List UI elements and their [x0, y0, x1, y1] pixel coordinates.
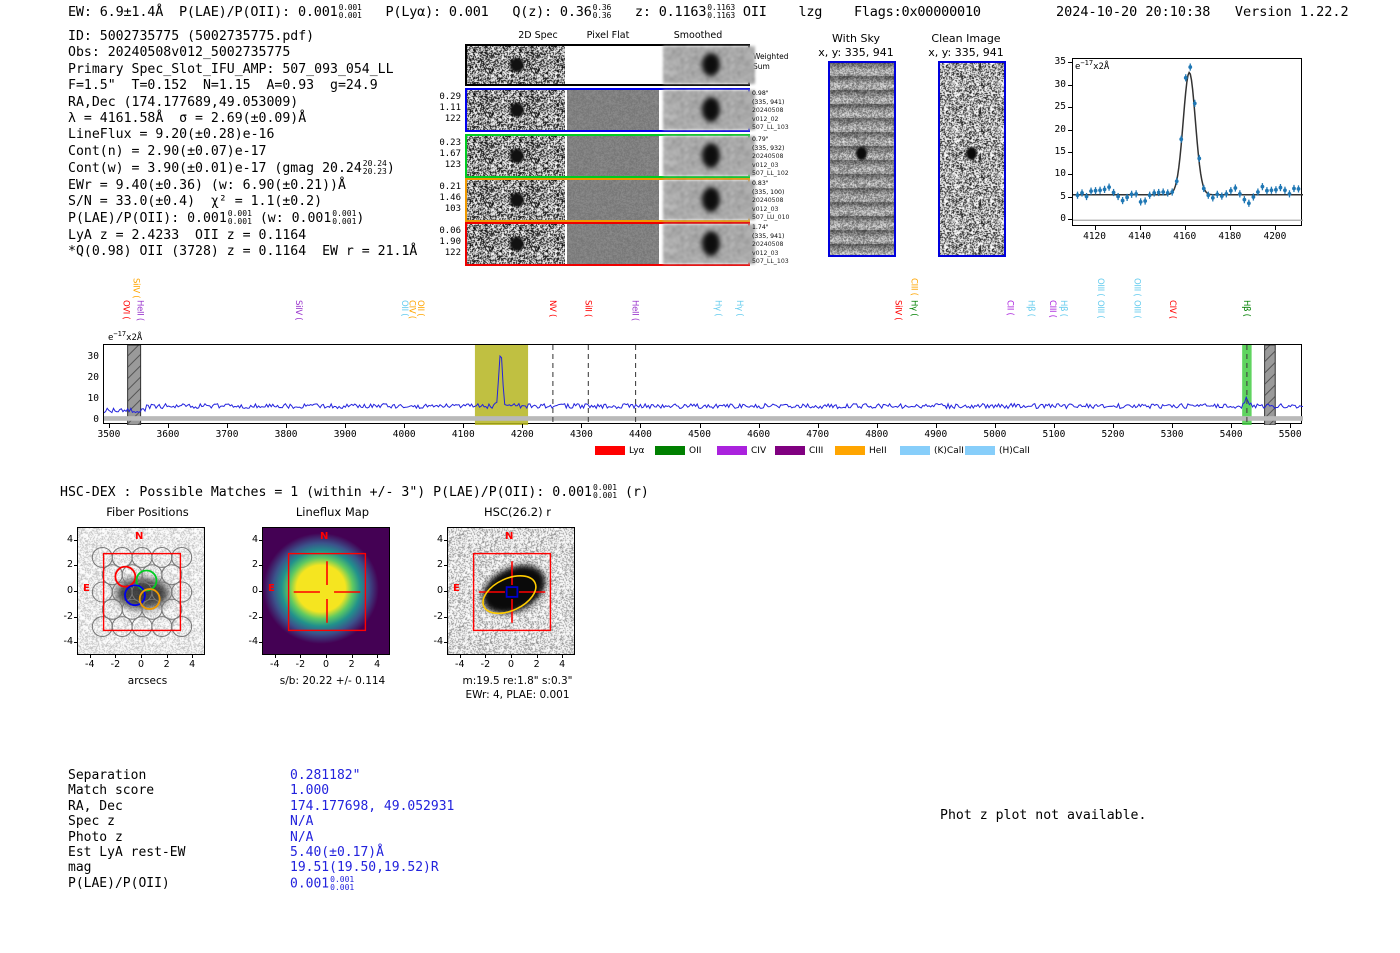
x-tick-label: 2: [153, 659, 181, 670]
x-tick-label: 5100: [1029, 429, 1079, 440]
photoz-note: Phot z plot not available.: [940, 808, 1146, 823]
y-tick-label: 4: [242, 534, 258, 545]
row-value: 19.51(19.50,19.52)R: [290, 860, 439, 875]
row-value: N/A: [290, 814, 313, 829]
spectral-line-label: SiIV (: [293, 300, 303, 344]
spec2d-right-value: (335, 100): [752, 189, 802, 198]
x-tick: [275, 655, 276, 658]
x-tick-label: 4: [178, 659, 206, 670]
cutout-image-lineflux-map: [262, 527, 390, 655]
spectral-line-label: Hγ (: [712, 300, 722, 344]
info-line: EWr = 9.40(±0.36) (w: 6.90(±0.21))Å: [68, 178, 417, 194]
header-summary: EW: 6.9±1.4Å P(LAE)/P(OII): 0.0010.0010.…: [68, 4, 981, 20]
y-tick: [1068, 62, 1072, 63]
spec2d-left-value: 122: [423, 114, 461, 125]
spec2d-left-value: 122: [423, 248, 461, 259]
x-tick: [1054, 424, 1055, 428]
y-tick-label: 30: [69, 351, 99, 362]
x-tick: [326, 655, 327, 658]
x-tick-label: -2: [101, 659, 129, 670]
x-tick-label: 5300: [1147, 429, 1197, 440]
x-tick: [404, 424, 405, 428]
x-tick: [1140, 226, 1141, 230]
spectral-line-label: SiIV (: [892, 300, 902, 344]
x-tick: [936, 424, 937, 428]
info-line-plae: P(LAE)/P(OII): 0.0010.0010.001 (w: 0.001…: [68, 210, 417, 227]
emission-blob: [702, 97, 720, 122]
spec2d-cell-smoothed: [663, 180, 755, 220]
y-tick-label: 20: [1038, 124, 1066, 135]
x-tick: [463, 424, 464, 428]
spec2d-cell-smoothed: [663, 90, 755, 130]
spec2d-row: [465, 222, 750, 266]
row-label: Separation: [68, 768, 146, 783]
spec2d-right-value: 20240508: [752, 107, 802, 116]
x-tick: [995, 424, 996, 428]
flux-unit-annotation: e−17x2Å: [1075, 59, 1109, 72]
info-line: S/N = 33.0(±0.4) χ² = 1.1(±0.2): [68, 194, 417, 210]
header-timestamp-version: 2024-10-20 20:10:38 Version 1.22.2: [1056, 4, 1349, 20]
cutout-image-fiber-positions: [77, 527, 205, 655]
x-tick-label: 3600: [143, 429, 193, 440]
spec2d-cell-2dspec: [467, 90, 565, 130]
spectral-line-label: Hβ (: [1025, 300, 1035, 344]
x-tick-label: 4300: [556, 429, 606, 440]
info-line-cont-w: Cont(w) = 3.90(±0.01)e-17 (gmag 20.2420.…: [68, 160, 417, 177]
y-tick-label: 30: [1038, 79, 1066, 90]
spectrum-trace: [104, 345, 1303, 425]
spec2d-left-value: 1.67: [423, 149, 461, 160]
legend-swatch: [965, 446, 995, 455]
x-tick: [818, 424, 819, 428]
emission-blob: [510, 237, 524, 251]
compass-east-label: E: [268, 583, 275, 594]
header-z-label: z:: [635, 4, 651, 20]
spec2d-row-right-values: 0.79"(335, 932)20240508v012_03507_LL_102: [752, 136, 802, 179]
cutout-overlay: [263, 528, 390, 655]
spec2d-left-value: 1.90: [423, 237, 461, 248]
spectrum-axes: [103, 344, 1302, 424]
source-blob: [856, 147, 867, 160]
y-tick-label: 2: [242, 559, 258, 570]
x-tick-label: 4200: [497, 429, 547, 440]
row-label: RA, Dec: [68, 799, 123, 814]
compass-north-label: N: [135, 531, 143, 542]
info-line: Primary Spec_Slot_IFU_AMP: 507_093_054_L…: [68, 62, 417, 78]
legend-label: (H)CalI: [999, 446, 1030, 456]
sky-clean-panels: With Skyx, y: 335, 941Clean Imagex, y: 3…: [815, 30, 1015, 265]
x-tick: [562, 655, 563, 658]
y-tick-label: 10: [69, 393, 99, 404]
x-tick: [115, 655, 116, 658]
x-tick: [192, 655, 193, 658]
row-value: 1.000: [290, 783, 329, 798]
y-tick-label: 5: [1038, 191, 1066, 202]
spec2d-right-value: v012_03: [752, 162, 802, 171]
x-tick: [581, 424, 582, 428]
zoom-plot-data: [1073, 59, 1303, 227]
y-tick-label: 10: [1038, 168, 1066, 179]
x-tick: [1185, 226, 1186, 230]
row-value: 5.40(±0.17)Å: [290, 845, 384, 860]
row-label: Est LyA rest-EW: [68, 845, 185, 860]
spec2d-right-value: 507_LL_103: [752, 124, 802, 133]
spectral-line-label: Hγ (: [734, 300, 744, 344]
y-tick: [444, 565, 447, 566]
y-tick-label: -4: [427, 636, 443, 647]
spec2d-left-value: 103: [423, 204, 461, 215]
y-tick-label: 2: [57, 559, 73, 570]
info-line: ID: 5002735775 (5002735775.pdf): [68, 29, 417, 45]
y-tick: [259, 642, 262, 643]
emission-blob: [702, 187, 720, 212]
hsc-header-filter: (r): [625, 485, 649, 500]
legend-label: CIV: [751, 446, 766, 456]
x-tick-label: 4900: [911, 429, 961, 440]
legend-swatch: [595, 446, 625, 455]
y-tick: [74, 591, 77, 592]
x-tick: [511, 655, 512, 658]
header-flags: Flags:0x00000010: [854, 4, 981, 20]
y-tick: [74, 617, 77, 618]
emission-blob: [510, 193, 524, 207]
spec2d-right-value: v012_03: [752, 250, 802, 259]
header-z-range: 0.11630.1163: [707, 4, 735, 20]
row-value: 0.0010.0010.001: [290, 876, 354, 892]
cutout-overlay: [78, 528, 205, 655]
x-tick-label: -2: [286, 659, 314, 670]
x-tick: [1290, 424, 1291, 428]
spec2d-right-value: v012_03: [752, 206, 802, 215]
spectral-line-label: Hβ (: [1241, 300, 1251, 344]
y-tick: [259, 617, 262, 618]
x-tick: [168, 424, 169, 428]
y-tick: [1068, 107, 1072, 108]
y-tick-label: 0: [69, 414, 99, 425]
spec2d-row-left-values: 0.291.11122: [423, 92, 461, 125]
spec2d-left-value: 0.06: [423, 226, 461, 237]
version-label: Version 1.22.2: [1235, 4, 1349, 20]
spec2d-row-left-values: 0.231.67123: [423, 138, 461, 171]
header-ew: EW: 6.9±1.4Å: [68, 4, 163, 20]
x-tick-label: 3500: [84, 429, 134, 440]
row-label: Spec z: [68, 814, 115, 829]
spectral-line-label: CIV (: [1167, 300, 1177, 344]
y-tick-label: 0: [57, 585, 73, 596]
y-tick: [1068, 219, 1072, 220]
x-tick-label: 3800: [261, 429, 311, 440]
spec2d-right-value: 20240508: [752, 153, 802, 162]
y-tick-label: -2: [242, 611, 258, 622]
spec2d-row-left-values: 0.061.90122: [423, 226, 461, 259]
clean-image: [938, 61, 1006, 257]
header-plya-value: 0.001: [449, 4, 489, 20]
spec2d-row: [465, 44, 750, 86]
x-tick: [700, 424, 701, 428]
legend-swatch: [775, 446, 805, 455]
zoom-plot-axes: [1072, 58, 1302, 226]
y-tick: [444, 617, 447, 618]
x-tick-label: 5500: [1265, 429, 1315, 440]
sky-panel-title: Clean Image: [916, 32, 1016, 45]
cutout-panels-row: Fiber PositionsNE-4-2024-4-2024arcsecsLi…: [55, 505, 675, 735]
compass-north-label: N: [505, 531, 513, 542]
header-z-value: 0.1163: [659, 4, 707, 20]
y-tick: [74, 642, 77, 643]
spec2d-right-value: 0.98": [752, 90, 802, 99]
x-tick-label: 5400: [1206, 429, 1256, 440]
hsc-dex-header: HSC-DEX : Possible Matches = 1 (within +…: [60, 484, 649, 500]
emission-line-zoom-plot: 4120414041604180420005101520253035e−17x2…: [1030, 48, 1308, 260]
x-tick: [300, 655, 301, 658]
y-tick-label: 15: [1038, 146, 1066, 157]
spec2d-right-value: 20240508: [752, 197, 802, 206]
row-label: Match score: [68, 783, 154, 798]
x-tick-label: 2: [338, 659, 366, 670]
x-tick-label: 4600: [734, 429, 784, 440]
y-tick-label: -2: [427, 611, 443, 622]
x-tick-label: 3900: [320, 429, 370, 440]
x-tick-label: 4000: [379, 429, 429, 440]
y-tick-label: 4: [427, 534, 443, 545]
y-tick-label: -4: [57, 636, 73, 647]
y-tick-label: 25: [1038, 101, 1066, 112]
x-tick-label: 4100: [438, 429, 488, 440]
spec2d-row: [465, 88, 750, 132]
x-tick: [877, 424, 878, 428]
x-tick: [345, 424, 346, 428]
spec2d-row: [465, 134, 750, 178]
row-value: 174.177698, 49.052931: [290, 799, 454, 814]
x-tick: [640, 424, 641, 428]
panel-caption-line1: m:19.5 re:1.8" s:0.3": [419, 675, 616, 687]
legend-swatch: [900, 446, 930, 455]
row-label: Photo z: [68, 830, 123, 845]
spec2d-cell-pixelflat: [567, 46, 659, 84]
x-tick-label: 4800: [852, 429, 902, 440]
compass-east-label: E: [453, 583, 460, 594]
spec2d-cell-2dspec: [467, 136, 565, 176]
info-line: LineFlux = 9.20(±0.28)e-16: [68, 127, 417, 143]
x-tick: [1275, 226, 1276, 230]
spec2d-left-value: 0.29: [423, 92, 461, 103]
y-tick: [74, 540, 77, 541]
x-tick-label: 2: [523, 659, 551, 670]
spec2d-left-value: 1.46: [423, 193, 461, 204]
spec2d-right-value: v012_02: [752, 116, 802, 125]
spec2d-row: [465, 178, 750, 222]
x-tick-label: 4160: [1165, 231, 1205, 242]
x-tick: [227, 424, 228, 428]
x-tick: [1095, 226, 1096, 230]
panel-title: Fiber Positions: [55, 505, 240, 519]
spec2d-column-header: Pixel Flat: [568, 30, 648, 41]
spec2d-right-value: 507_LL_103: [752, 258, 802, 267]
detection-info-block: ID: 5002735775 (5002735775.pdf)Obs: 2024…: [68, 29, 417, 261]
hsc-header-text: HSC-DEX : Possible Matches = 1 (within +…: [60, 485, 592, 500]
spectral-line-label: CIII (: [1047, 300, 1057, 344]
spectral-line-label: OVI (: [120, 300, 130, 344]
spec2d-cell-smoothed: [663, 46, 755, 84]
x-tick-label: 3700: [202, 429, 252, 440]
x-tick: [286, 424, 287, 428]
header-plae-label: P(LAE)/P(OII):: [179, 4, 290, 20]
timestamp: 2024-10-20 20:10:38: [1056, 4, 1210, 20]
x-tick-label: 0: [497, 659, 525, 670]
y-tick: [259, 565, 262, 566]
legend-label: (K)CalI: [934, 446, 964, 456]
spectral-line-label: OIII (: [1095, 278, 1105, 322]
spec2d-row-right-values: 0.83"(335, 100)20240508v012_03507_LU_010: [752, 180, 802, 223]
info-line: F=1.5" T=0.152 N=1.15 A=0.93 g=24.9: [68, 78, 417, 94]
y-tick: [1068, 85, 1072, 86]
emission-blob: [702, 143, 720, 168]
y-tick: [1068, 174, 1072, 175]
spectral-line-label: OIII (: [1132, 278, 1142, 322]
x-tick: [1231, 424, 1232, 428]
info-line: λ = 4161.58Å σ = 2.69(±0.09)Å: [68, 111, 417, 127]
spectral-line-label: HeII (: [630, 300, 640, 344]
panel-xlabel: arcsecs: [55, 675, 240, 687]
header-z-species: OII: [743, 4, 767, 20]
x-tick-label: 4: [363, 659, 391, 670]
y-tick-label: -4: [242, 636, 258, 647]
x-tick: [1113, 424, 1114, 428]
y-tick: [1068, 152, 1072, 153]
x-tick-label: 4400: [615, 429, 665, 440]
x-tick-label: 5000: [970, 429, 1020, 440]
emission-blob: [702, 231, 720, 256]
y-tick-label: 35: [1038, 56, 1066, 67]
x-tick: [759, 424, 760, 428]
spec2d-cell-smoothed: [663, 136, 755, 176]
legend-swatch: [835, 446, 865, 455]
legend-label: CIII: [809, 446, 823, 456]
y-tick-label: 0: [427, 585, 443, 596]
x-tick: [1172, 424, 1173, 428]
sky-panel-title: With Sky: [806, 32, 906, 45]
x-tick-label: 4: [548, 659, 576, 670]
panel-caption-line2: EWr: 4, PLAE: 0.001: [419, 689, 616, 701]
x-tick: [90, 655, 91, 658]
cutout-overlay: [448, 528, 575, 655]
x-tick-label: 5200: [1088, 429, 1138, 440]
spec2d-cell-pixelflat: [567, 136, 659, 176]
emission-blob: [510, 58, 524, 72]
x-tick-label: 4120: [1075, 231, 1115, 242]
x-tick-label: 0: [312, 659, 340, 670]
header-qz-value: 0.36: [560, 4, 592, 20]
spec2d-cell-2dspec: [467, 46, 565, 84]
spec2d-right-value: (335, 941): [752, 233, 802, 242]
sky-panel-subtitle: x, y: 335, 941: [916, 46, 1016, 59]
emission-blob: [510, 149, 524, 163]
spectral-line-label: SiII (: [582, 300, 592, 344]
full-spectrum-plot: 3500360037003800390040004100420043004400…: [95, 276, 1310, 466]
y-tick-label: 0: [242, 585, 258, 596]
x-tick-label: 4500: [675, 429, 725, 440]
x-tick: [352, 655, 353, 658]
header-plae-value: 0.001: [298, 4, 338, 20]
spectral-line-label: HeII (: [135, 300, 145, 344]
spec2d-right-value: 507_LU_010: [752, 214, 802, 223]
spec2d-right-value: 1.74": [752, 224, 802, 233]
x-tick: [537, 655, 538, 658]
y-tick-label: 0: [1038, 213, 1066, 224]
x-tick-label: 4200: [1255, 231, 1295, 242]
spec2d-left-value: 123: [423, 160, 461, 171]
sky-panel-subtitle: x, y: 335, 941: [806, 46, 906, 59]
legend-swatch: [717, 446, 747, 455]
header-plya-label: P(Lyα):: [385, 4, 441, 20]
spec2d-left-value: 0.21: [423, 182, 461, 193]
spec2d-cell-pixelflat: [567, 90, 659, 130]
info-line: Cont(n) = 2.90(±0.07)e-17: [68, 144, 417, 160]
x-tick-label: 4140: [1120, 231, 1160, 242]
spec2d-cell-2dspec: [467, 224, 565, 264]
x-tick: [167, 655, 168, 658]
y-tick: [74, 565, 77, 566]
x-tick: [377, 655, 378, 658]
x-tick-label: -2: [471, 659, 499, 670]
panel-title: Lineflux Map: [240, 505, 425, 519]
x-tick-label: 4180: [1210, 231, 1250, 242]
spec2d-row-right-values: 0.98"(335, 941)20240508v012_02507_LL_103: [752, 90, 802, 133]
spec2d-cell-smoothed: [663, 224, 755, 264]
info-line: Obs: 20240508v012_5002735775: [68, 45, 417, 61]
spectral-line-label: OII (: [415, 300, 425, 344]
spec2d-right-value: 0.83": [752, 180, 802, 189]
header-qz-range: 0.360.36: [593, 4, 611, 20]
header-tag: lzg: [798, 4, 822, 20]
x-tick: [141, 655, 142, 658]
spec2d-right-value: 20240508: [752, 241, 802, 250]
panel-caption: s/b: 20.22 +/- 0.114: [234, 675, 431, 687]
spec2d-row-left-values: 0.211.46103: [423, 182, 461, 215]
spec2d-right-value: 507_LL_102: [752, 170, 802, 179]
compass-north-label: N: [320, 531, 328, 542]
cutout-image-hsc-r-image: [447, 527, 575, 655]
spec2d-left-value: 0.23: [423, 138, 461, 149]
emission-blob: [510, 103, 524, 117]
spec2d-cell-pixelflat: [567, 224, 659, 264]
x-tick-label: -4: [261, 659, 289, 670]
x-tick-label: -4: [446, 659, 474, 670]
spec2d-right-value: 0.79": [752, 136, 802, 145]
hsc-header-range: 0.0010.001: [593, 484, 617, 500]
y-tick-label: 4: [57, 534, 73, 545]
spec2d-cell-2dspec: [467, 180, 565, 220]
y-tick-label: 20: [69, 372, 99, 383]
source-blob: [966, 147, 977, 160]
spec2d-right-value: (335, 932): [752, 145, 802, 154]
spec2d-cell-pixelflat: [567, 180, 659, 220]
header-plae-range: 0.0010.001: [339, 4, 362, 20]
y-tick: [444, 540, 447, 541]
x-tick: [1230, 226, 1231, 230]
x-tick: [109, 424, 110, 428]
y-tick: [259, 540, 262, 541]
spec2d-column-header: 2D Spec: [498, 30, 578, 41]
spec2d-column-header: Smoothed: [658, 30, 738, 41]
legend-label: Lyα: [629, 446, 644, 456]
panel-title: HSC(26.2) r: [425, 505, 610, 519]
row-label: P(LAE)/P(OII): [68, 876, 170, 891]
x-tick: [522, 424, 523, 428]
y-tick: [444, 642, 447, 643]
info-line: *Q(0.98) OII (3728) z = 0.1164 EW r = 21…: [68, 244, 417, 260]
with-sky-image: [828, 61, 896, 257]
